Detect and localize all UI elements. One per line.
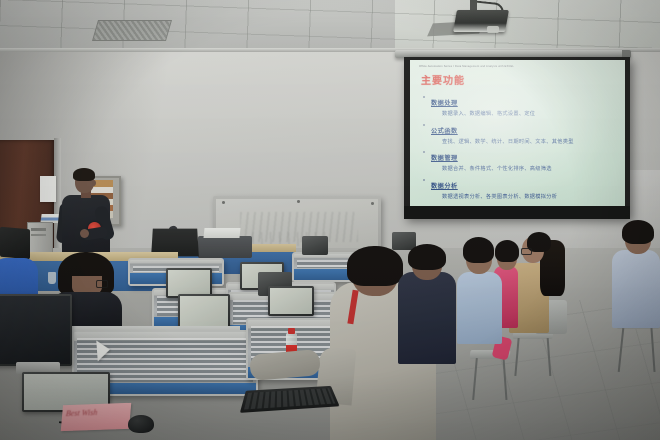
whiteboard-screw — [297, 200, 300, 203]
attendee-light-blue-body — [457, 272, 502, 344]
pc-vent-slot — [31, 234, 46, 236]
slide-title: 主要功能 — [421, 72, 465, 87]
slide-section-detail: 数据录入、数据编辑、格式设置、定位 — [419, 110, 624, 119]
slide-section: 公式函数 查找、逻辑、数学、统计、日期时间、文本、其他类型 — [419, 120, 624, 147]
pc-drive-slot — [31, 228, 46, 231]
presenter-hair — [73, 168, 95, 181]
slide-section-detail: 查找、逻辑、数学、统计、日期时间、文本、其他类型 — [419, 138, 624, 147]
bottle-cap — [288, 328, 295, 334]
attendee-glasses — [521, 248, 532, 255]
paper-name-card — [96, 340, 110, 362]
presenter-ear — [92, 180, 96, 186]
attendee-right-shirt-body — [612, 250, 660, 328]
slide-section: 数据分析 数据透视表分析、各类图表分析、数据模拟分析 — [419, 175, 624, 202]
whiteboard-screw — [222, 201, 225, 204]
monitor-rear — [302, 236, 328, 255]
lab-monitor — [268, 286, 314, 316]
classroom-photo: Office Automation Series I Data Manageme… — [0, 0, 660, 440]
monitor-screen — [270, 288, 312, 314]
slide-header-line: Office Automation Series I Data Manageme… — [419, 65, 609, 68]
bullet-icon — [423, 96, 425, 98]
slide-body: 数据处理 数据录入、数据编辑、格式设置、定位 公式函数 查找、逻辑、数学、统计、… — [419, 92, 624, 212]
slide-section-detail: 数据合并、条件格式、个性化排序、高级筛选 — [419, 165, 624, 174]
slide-section: 数据处理 数据录入、数据编辑、格式设置、定位 — [419, 92, 624, 119]
monitor-screen-off — [0, 296, 70, 364]
printer — [198, 236, 252, 258]
projection-screen: Office Automation Series I Data Manageme… — [410, 60, 625, 212]
attendee-navy-hoodie-hair — [408, 244, 446, 270]
ceiling-vent — [92, 20, 172, 41]
attendee-pink-coat-hair — [495, 240, 519, 262]
slide-section: 数据管理 数据合并、条件格式、个性化排序、高级筛选 — [419, 147, 624, 174]
monitor-screen — [180, 296, 228, 328]
computer-mouse[interactable] — [128, 415, 154, 433]
foreground-monitor — [0, 294, 72, 366]
whiteboard-screw — [371, 202, 374, 205]
bullet-icon — [423, 151, 425, 153]
attendee-gray-suit-hair — [347, 246, 403, 286]
slide-section-heading: 数据分析 — [419, 182, 458, 191]
ceiling-projector — [453, 10, 509, 32]
attendee-navy-hoodie-body — [398, 272, 456, 364]
monitor-screen — [168, 270, 210, 296]
paper-stack — [203, 228, 240, 238]
slide-section-heading: 数据处理 — [419, 99, 458, 108]
keyboard-keys — [244, 388, 335, 409]
wall-notice-paper — [40, 176, 56, 202]
projector-lens — [487, 26, 499, 33]
attendee-light-blue-hair — [463, 237, 494, 263]
bullet-icon — [423, 179, 425, 181]
slide-section-heading: 数据管理 — [419, 154, 458, 163]
lab-monitor — [178, 294, 230, 330]
slide-section-detail: 数据透视表分析、各类图表分析、数据模拟分析 — [419, 193, 624, 202]
presenter-hand — [80, 229, 89, 238]
instructor-monitor — [0, 227, 30, 260]
bullet-icon — [423, 124, 425, 126]
drinking-cup — [48, 272, 56, 284]
slide-section-heading: 公式函数 — [419, 127, 458, 136]
attendee-front-glasses — [96, 280, 108, 288]
screen-bottom-bar — [404, 206, 630, 219]
attendee-right-hair — [622, 220, 654, 244]
